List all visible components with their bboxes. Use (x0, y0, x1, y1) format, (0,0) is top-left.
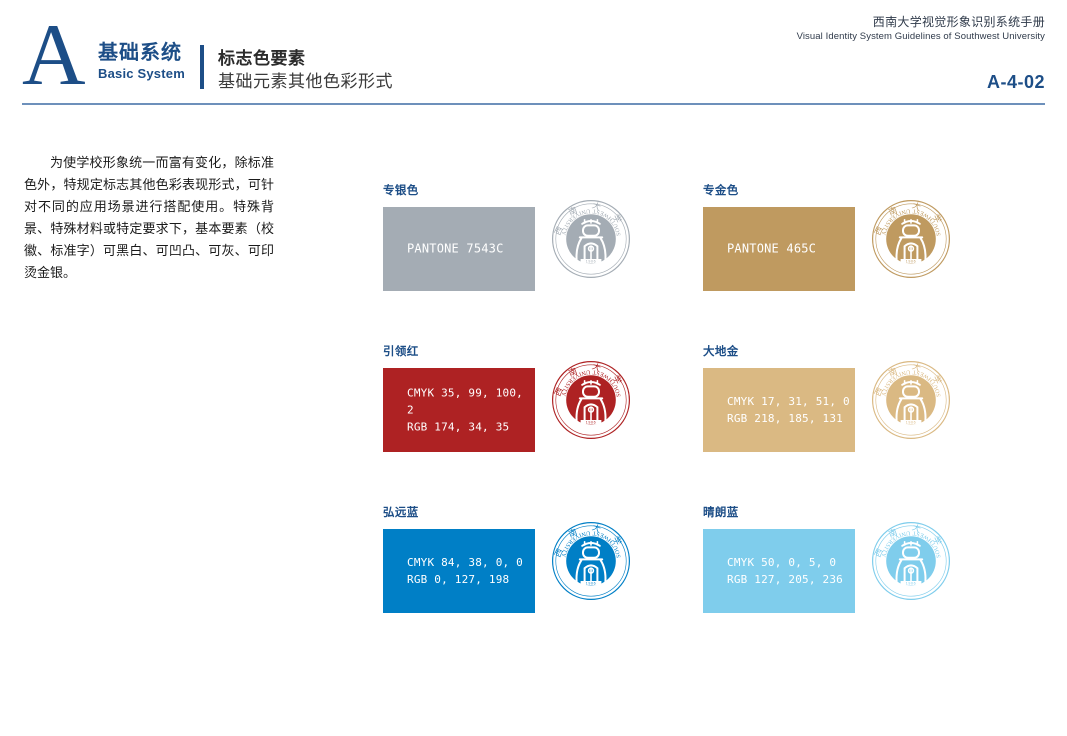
svg-text:1906: 1906 (586, 260, 596, 264)
swatch-name: 大地金 (703, 345, 1023, 359)
system-name-en: Basic System (98, 66, 185, 82)
swatch-chip: PANTONE 7543C (383, 207, 535, 291)
manual-title-cn: 西南大学视觉形象识别系统手册 (797, 14, 1045, 30)
manual-title-en: Visual Identity System Guidelines of Sou… (797, 30, 1045, 44)
swatch-spec-text: CMYK 17, 31, 51, 0 RGB 218, 185, 131 (727, 393, 850, 427)
swatch-card: 弘远蓝 CMYK 84, 38, 0, 0 RGB 0, 127, 198 19… (383, 506, 703, 629)
swatch-spec-text: CMYK 84, 38, 0, 0 RGB 0, 127, 198 (407, 554, 523, 588)
swatch-name: 晴朗蓝 (703, 506, 1023, 520)
section-letter-mark: A (22, 12, 86, 100)
swatch-chip: CMYK 35, 99, 100, 2 RGB 174, 34, 35 (383, 368, 535, 452)
swatch-name: 专银色 (383, 184, 703, 198)
swatch-row: 引领红 CMYK 35, 99, 100, 2 RGB 174, 34, 35 … (383, 345, 1003, 506)
swatch-chip: PANTONE 465C (703, 207, 855, 291)
swatch-card: 引领红 CMYK 35, 99, 100, 2 RGB 174, 34, 35 … (383, 345, 703, 468)
swatch-row: 弘远蓝 CMYK 84, 38, 0, 0 RGB 0, 127, 198 19… (383, 506, 1003, 667)
svg-text:1906: 1906 (906, 260, 916, 264)
swatch-chip: CMYK 17, 31, 51, 0 RGB 218, 185, 131 (703, 368, 855, 452)
header-divider-bar (200, 45, 204, 89)
swatch-name: 引领红 (383, 345, 703, 359)
university-emblem-icon: 1906西南大学SOUTHWEST UNIVERSITY (551, 360, 631, 440)
swatch-chip: CMYK 50, 0, 5, 0 RGB 127, 205, 236 (703, 529, 855, 613)
university-emblem-icon: 1906西南大学SOUTHWEST UNIVERSITY (871, 521, 951, 601)
swatch-name: 弘远蓝 (383, 506, 703, 520)
swatch-card: 专金色 PANTONE 465C 1906西南大学SOUTHWEST UNIVE… (703, 184, 1023, 307)
swatch-name: 专金色 (703, 184, 1023, 198)
swatch-row: 专银色 PANTONE 7543C 1906西南大学SOUTHWEST UNIV… (383, 184, 1003, 345)
page-title: 标志色要素 (218, 48, 393, 69)
page-code: A-4-02 (987, 72, 1045, 93)
university-emblem-icon: 1906西南大学SOUTHWEST UNIVERSITY (871, 360, 951, 440)
swatch-spec-text: CMYK 50, 0, 5, 0 RGB 127, 205, 236 (727, 554, 843, 588)
svg-text:1906: 1906 (906, 421, 916, 425)
page-subtitle: 基础元素其他色彩形式 (218, 71, 393, 93)
svg-text:1906: 1906 (906, 582, 916, 586)
system-name-cn: 基础系统 (98, 42, 185, 64)
page-header: A 基础系统 Basic System 标志色要素 基础元素其他色彩形式 西南大… (0, 0, 1067, 104)
svg-text:1906: 1906 (586, 582, 596, 586)
university-emblem-icon: 1906西南大学SOUTHWEST UNIVERSITY (551, 199, 631, 279)
swatch-card: 晴朗蓝 CMYK 50, 0, 5, 0 RGB 127, 205, 236 1… (703, 506, 1023, 629)
swatch-card: 大地金 CMYK 17, 31, 51, 0 RGB 218, 185, 131… (703, 345, 1023, 468)
page-title-block: 标志色要素 基础元素其他色彩形式 (218, 48, 393, 93)
university-emblem-icon: 1906西南大学SOUTHWEST UNIVERSITY (871, 199, 951, 279)
description-paragraph: 为使学校形象统一而富有变化，除标准色外，特规定标志其他色彩表现形式，可针对不同的… (24, 152, 274, 284)
swatch-chip: CMYK 84, 38, 0, 0 RGB 0, 127, 198 (383, 529, 535, 613)
swatch-spec-text: CMYK 35, 99, 100, 2 RGB 174, 34, 35 (407, 385, 535, 436)
color-swatch-grid: 专银色 PANTONE 7543C 1906西南大学SOUTHWEST UNIV… (383, 184, 1003, 667)
manual-identifier: 西南大学视觉形象识别系统手册 Visual Identity System Gu… (797, 14, 1045, 44)
svg-text:1906: 1906 (586, 421, 596, 425)
swatch-card: 专银色 PANTONE 7543C 1906西南大学SOUTHWEST UNIV… (383, 184, 703, 307)
header-rule (22, 103, 1045, 105)
university-emblem-icon: 1906西南大学SOUTHWEST UNIVERSITY (551, 521, 631, 601)
swatch-spec-text: PANTONE 7543C (407, 241, 504, 258)
swatch-spec-text: PANTONE 465C (727, 241, 816, 258)
system-name-block: 基础系统 Basic System (98, 42, 185, 82)
